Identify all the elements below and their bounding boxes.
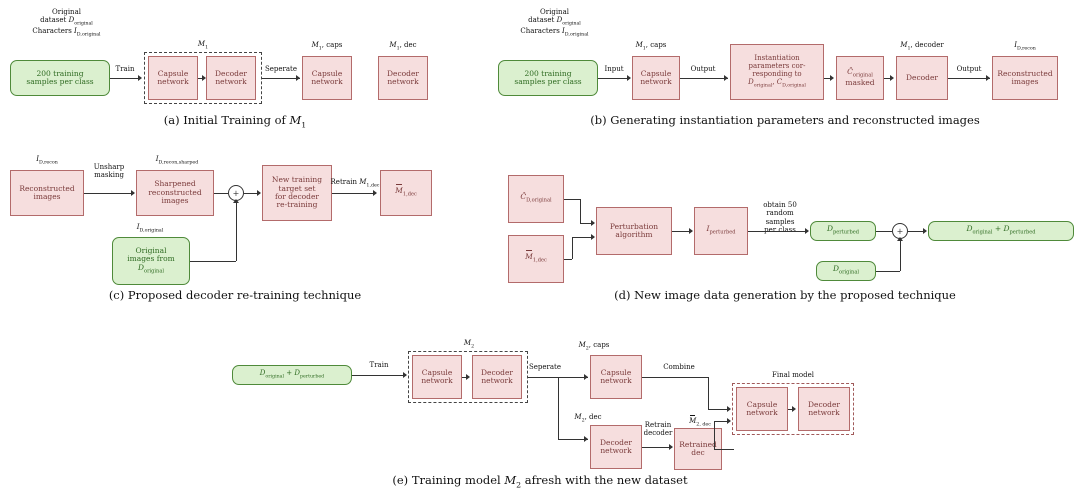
retrain-label-c: Retrain M1,dec (330, 178, 380, 189)
decoder-network-final-e: Decoder network (798, 387, 850, 431)
panel-d: ĈD,original M1,dec Perturbation algorith… (490, 145, 1080, 310)
caption-d-text: (d) New image data generation by the pro… (614, 288, 956, 302)
arrow-output-b2 (986, 75, 990, 81)
m1decbar-sub-d: 1,dec (533, 258, 547, 264)
retraindec-l1-e: Retrain (645, 421, 672, 429)
m2caps-suffix-e: , caps (589, 341, 610, 349)
m1decb-suffix: , decoder (911, 41, 944, 49)
m1capsb-suffix: , caps (646, 41, 667, 49)
unsharp-l2-c: masking (94, 171, 124, 179)
arrow-retrain-dec-e (669, 444, 673, 450)
label-original-b: Original (540, 8, 569, 16)
m1-dec-bar-c: M1,dec (380, 170, 432, 216)
caption-e-math: M (504, 473, 516, 487)
edge-caps-combine-e (642, 377, 708, 378)
reconstructed-images-b: Reconstructed images (992, 56, 1058, 100)
seperate-arrow-label-e: Seperate (522, 363, 568, 371)
m1capsb-sym: M (636, 41, 643, 49)
obtain-samples-label-d: obtain 50 random samples per class (752, 201, 808, 234)
seperate-text-e: Seperate (529, 363, 561, 371)
train-arrow-label-a: Train (110, 65, 140, 73)
training-samples-b: 200 training samples per class (498, 60, 598, 96)
origimg-l3-c: Doriginal (138, 264, 164, 275)
dcombined-sym-e: Doriginal + Dperturbed (260, 370, 324, 380)
m2-caps-label-e: M2, caps (562, 341, 626, 352)
recon-l2-b: images (1011, 78, 1038, 86)
edge-combine-vert-e (708, 377, 709, 409)
edge-sep-vert-e (558, 377, 559, 439)
dp-sub-d: perturbed (833, 230, 859, 236)
edge-train-a (110, 78, 140, 79)
caption-e: (e) Training model M2 afresh with the ne… (0, 473, 1080, 489)
edge-retrained-top-e (714, 449, 722, 450)
train-arrow-label-e: Train (356, 361, 402, 369)
arrow-m1-perturb-d (591, 234, 595, 240)
edge-unsharp-c (84, 193, 134, 194)
caption-c-text: (c) Proposed decoder re-training techniq… (109, 288, 361, 302)
arrow-sum-combined-d (923, 228, 927, 234)
edge-output-b1 (680, 78, 728, 79)
d-combined-e: Doriginal + Dperturbed (232, 365, 352, 385)
arrow-sep-caps-e (584, 374, 588, 380)
m2-group-label-e: M2 (442, 339, 496, 350)
panel-e: Doriginal + Dperturbed Train M2 Capsule … (0, 325, 1080, 499)
inst-c-sub: D,original (782, 83, 806, 88)
input-text-b: Input (604, 65, 623, 73)
plus-sym-c: + (233, 189, 240, 198)
panel-a: Original dataset Doriginal Characters ID… (0, 0, 470, 140)
caption-e-pre: (e) Training model (392, 473, 504, 487)
arrow-doriginal-sum-d (897, 237, 903, 241)
arrow-retrain-c (373, 190, 377, 196)
label-dataset-b: dataset (528, 16, 556, 24)
idrb-sub: D,recon (1017, 46, 1036, 51)
d-original-d: Doriginal (816, 261, 876, 281)
arrow-output-b1 (724, 75, 728, 81)
edge-retrained-vert-e (714, 421, 715, 449)
m2-sym-e: M (464, 339, 471, 347)
m1-caps-label-b: M1, caps (624, 41, 678, 52)
dc-plus-e: + (286, 369, 292, 377)
capsule-network-final-e: Capsule network (736, 387, 788, 431)
new-training-target-set-c: New training target set for decoder re-t… (262, 165, 332, 221)
arrow-retrained-final-e (727, 418, 731, 424)
m1dec-sym: M (389, 41, 396, 49)
dc-sub2-e: perturbed (300, 375, 324, 380)
m1-dec-label: M1, dec (376, 41, 430, 52)
edge-m1-vert-d (572, 237, 573, 259)
do-sub-d: original (839, 270, 859, 276)
ip-sub-d: perturbed (709, 230, 735, 236)
arrow-combine-caps-e (727, 406, 731, 412)
decoder-b: Decoder (896, 56, 948, 100)
capsule-l2-e2: network (600, 377, 631, 385)
obtain-l3-d: samples (766, 218, 795, 226)
idrsc-sub: D,recon,sharped (158, 160, 198, 165)
caption-a-text: (a) Initial Training of (164, 113, 290, 127)
i-d-recon-label-b: ID,recon (990, 41, 1060, 52)
original-images-c: Original images from Doriginal (112, 237, 190, 285)
edge-seperate-a (262, 78, 300, 79)
m1decbar-sub-c: 1,dec (403, 192, 417, 198)
train-text-a: Train (116, 65, 135, 73)
output-text-b2: Output (957, 65, 982, 73)
origimg-dsub: original (144, 268, 164, 274)
arrow-cdo-perturb-d (591, 220, 595, 226)
retrain-word-c: Retrain (331, 178, 360, 186)
i-d-recon-label-c: ID,recon (12, 155, 82, 166)
c-masked-b: Ĉoriginal masked (836, 56, 884, 100)
caption-a-sub: 1 (301, 120, 306, 129)
m2dec-sym-e: M (574, 413, 581, 421)
edge-retrain-dec-e (642, 447, 672, 448)
m1-dec-bar-d: M1,dec (508, 235, 564, 283)
retrained-l2-e: dec (691, 449, 704, 457)
decoder-network-e1: Decoder network (472, 355, 522, 399)
capsule-network-e2: Capsule network (590, 355, 642, 399)
decoder-l2-e1: network (481, 377, 512, 385)
arrow-i-dperturbed-d (805, 228, 809, 234)
edge-orig-vert-c (236, 203, 237, 261)
edge-retrained-right-e (722, 449, 734, 450)
perturb-l2-d: algorithm (615, 231, 652, 239)
edge-doriginal-right-d (876, 271, 900, 272)
origimg-l2-c: images from (127, 255, 174, 263)
combine-label-e: Combine (652, 363, 706, 371)
dataset-label-b: Original dataset Doriginal Characters ID… (502, 8, 607, 38)
caption-c: (c) Proposed decoder re-training techniq… (0, 288, 470, 302)
edge-i-dperturbed-d (748, 231, 808, 232)
arrow-sep-dec-e (584, 436, 588, 442)
output-arrow-label-b1: Output (678, 65, 728, 73)
final-model-label-e: Final model (752, 371, 834, 379)
label-dataset: dataset (40, 16, 68, 24)
arrow-caps-dec-e (466, 374, 470, 380)
perturbation-algorithm-d: Perturbation algorithm (596, 207, 672, 255)
newt-l4-c: re-training (277, 201, 318, 209)
decoder-network-a: Decoder network (206, 56, 256, 100)
edge-doriginal-vert-d (900, 241, 901, 271)
edge-input-b (598, 78, 630, 79)
edge-retrain-c (332, 193, 376, 194)
dcombined-sym-d: Doriginal + Dperturbed (966, 225, 1035, 236)
final-model-text-e: Final model (772, 371, 814, 379)
reconstructed-images-c: Reconstructed images (10, 170, 84, 216)
edge-cdo-right-d (564, 199, 580, 200)
seperate-text-a: Seperate (265, 65, 297, 73)
sharp-l3-c: images (161, 197, 188, 205)
samples-line-2: samples per class (26, 78, 93, 86)
doriginal-sym-d: Doriginal (833, 265, 859, 276)
retrain-decoder-label-e: Retrain decoder (640, 421, 676, 438)
arrow-seperate-a (296, 75, 300, 81)
obtain-l1-d: obtain 50 (763, 201, 797, 209)
edge-train-e (352, 375, 406, 376)
arrow-inst-masked-b (830, 75, 834, 81)
inst-l4: Doriginal, CD,original (748, 79, 806, 89)
unsharp-masking-label-c: Unsharp masking (84, 163, 134, 180)
decoder-l2-a: network (215, 78, 246, 86)
m1-caps-label: M1, caps (300, 41, 354, 52)
d-perturbed-d: Dperturbed (810, 221, 876, 241)
m1decbar-sym-c: M (395, 186, 403, 195)
obtain-l4-d: per class (764, 226, 796, 234)
instantiation-params-b: Instantiation parameters cor- responding… (730, 44, 824, 100)
combine-text-e: Combine (663, 363, 695, 371)
edge-cdo-vert-d (580, 199, 581, 223)
unsharp-l1-c: Unsharp (94, 163, 125, 171)
decoder-word-b: Decoder (906, 74, 938, 82)
arrow-final-inner-e (792, 406, 796, 412)
i-d-original-label-c: ID,original (110, 223, 190, 234)
m2bar-sym-e: M (689, 417, 696, 425)
sub-original-b: original (562, 22, 581, 27)
caption-b-text: (b) Generating instantiation parameters … (590, 113, 980, 127)
c-d-original-d: ĈD,original (508, 175, 564, 223)
m1decbar-sym-d: M (525, 252, 533, 261)
m2-sub-e: 2 (471, 344, 474, 349)
decoder-network-out-a: Decoder network (378, 56, 428, 100)
i-perturbed-d: Iperturbed (694, 207, 748, 255)
dataset-label-a: Original dataset Doriginal Characters ID… (14, 8, 119, 38)
retraindec-l2-e: decoder (644, 429, 673, 437)
training-samples-a: 200 training samples per class (10, 60, 110, 96)
output-arrow-label-b2: Output (946, 65, 992, 73)
capsule-network-b: Capsule network (632, 56, 680, 100)
dc-sub2-d: perturbed (1010, 230, 1036, 236)
m1-sym: M (198, 40, 205, 48)
dc-sub1-e: original (265, 375, 284, 380)
m2bar-sub-e: 2, dec (696, 422, 711, 427)
decoder-l2-final-e: network (808, 409, 839, 417)
idrc-sub: D,recon (39, 160, 58, 165)
capsule-network-a: Capsule network (148, 56, 198, 100)
m1caps-suffix: , caps (322, 41, 343, 49)
m1decbar-c: M1,dec (395, 187, 417, 198)
edge-output-b2 (948, 78, 990, 79)
capsule-out-l2-a: network (311, 78, 342, 86)
m2dec-suffix-e: , dec (585, 413, 602, 421)
c-masked-word: masked (845, 79, 874, 87)
i-d-recon-sharped-label-c: ID,recon,sharped (134, 155, 220, 166)
m2caps-sym-e: M (579, 341, 586, 349)
panel-c: ID,recon Reconstructed images Unsharp ma… (0, 145, 470, 310)
seperate-arrow-label-a: Seperate (258, 65, 304, 73)
arrow-masked-dec-b (890, 75, 894, 81)
caption-e-post: afresh with the new dataset (521, 473, 687, 487)
idoc-sub: D,original (139, 228, 163, 233)
sub-original: original (74, 22, 93, 27)
samples-line-2-b: samples per class (514, 78, 581, 86)
output-text-b1: Output (691, 65, 716, 73)
edge-orig-up-c (190, 261, 236, 262)
capsule-network-out-a: Capsule network (302, 56, 352, 100)
arrow-train-e (403, 372, 407, 378)
m2-dec-label-e: M2, dec (556, 413, 620, 424)
recon-l2-c: images (33, 193, 60, 201)
arrow-sum-target-c (257, 190, 261, 196)
capsule-l2-a: network (157, 78, 188, 86)
sharpened-reconstructed-images-c: Sharpened reconstructed images (136, 170, 214, 216)
d-combined-d: Doriginal + Dperturbed (928, 221, 1074, 241)
m1decbar-d: M1,dec (525, 253, 547, 264)
capsule-l2-b: network (640, 78, 671, 86)
arrow-orig-sum-c (233, 199, 239, 203)
cdo-sym-d: ĈD,original (520, 193, 551, 204)
inst-d-sub: original (754, 83, 773, 88)
edge-dperturbed-sum-d (876, 231, 892, 232)
label-characters-b: Characters (520, 27, 562, 35)
iperturbed-sym-d: Iperturbed (707, 225, 736, 236)
caption-d: (d) New image data generation by the pro… (490, 288, 1080, 302)
dperturbed-sym-d: Dperturbed (827, 225, 859, 236)
obtain-l2-d: random (766, 209, 793, 217)
m2-dec-bar-label-e: M2, dec (672, 417, 728, 428)
sub-d-original: D,original (77, 33, 101, 38)
label-original: Original (52, 8, 81, 16)
caption-b: (b) Generating instantiation parameters … (490, 113, 1080, 127)
capsule-l2-e1: network (421, 377, 452, 385)
caption-a: (a) Initial Training of M1 (0, 113, 470, 129)
m1-group-label: M1 (176, 40, 230, 51)
dc-plus-d: + (995, 224, 1001, 233)
decoder-l2-e2: network (600, 447, 631, 455)
sub-d-original-b: D,original (565, 33, 589, 38)
label-characters: Characters (32, 27, 74, 35)
capsule-network-e1: Capsule network (412, 355, 462, 399)
arrow-train-a (138, 75, 142, 81)
arrow-input-b (627, 75, 631, 81)
caption-a-math: M (289, 113, 301, 127)
decoder-network-e2: Decoder network (590, 425, 642, 469)
m1-sub: 1 (205, 45, 208, 50)
cdo-sub-d: D,original (526, 198, 552, 204)
panel-b: Original dataset Doriginal Characters ID… (490, 0, 1080, 140)
capsule-l2-final-e: network (746, 409, 777, 417)
m1dec-suffix: , dec (400, 41, 417, 49)
m1caps-sym: M (312, 41, 319, 49)
edge-sharp-sum-c (214, 193, 228, 194)
train-text-e: Train (370, 361, 389, 369)
plus-sym-d: + (897, 227, 904, 236)
arrow-perturb-i-d (689, 228, 693, 234)
decoder-out-l2-a: network (387, 78, 418, 86)
retrain-sub-c: 1,dec (366, 183, 379, 188)
dc-sub1-d: original (972, 230, 992, 236)
m1-decoder-label-b: M1, decoder (890, 41, 954, 52)
edge-m1-right-d (564, 259, 572, 260)
input-arrow-label-b: Input (598, 65, 630, 73)
arrow-unsharp-c (131, 190, 135, 196)
